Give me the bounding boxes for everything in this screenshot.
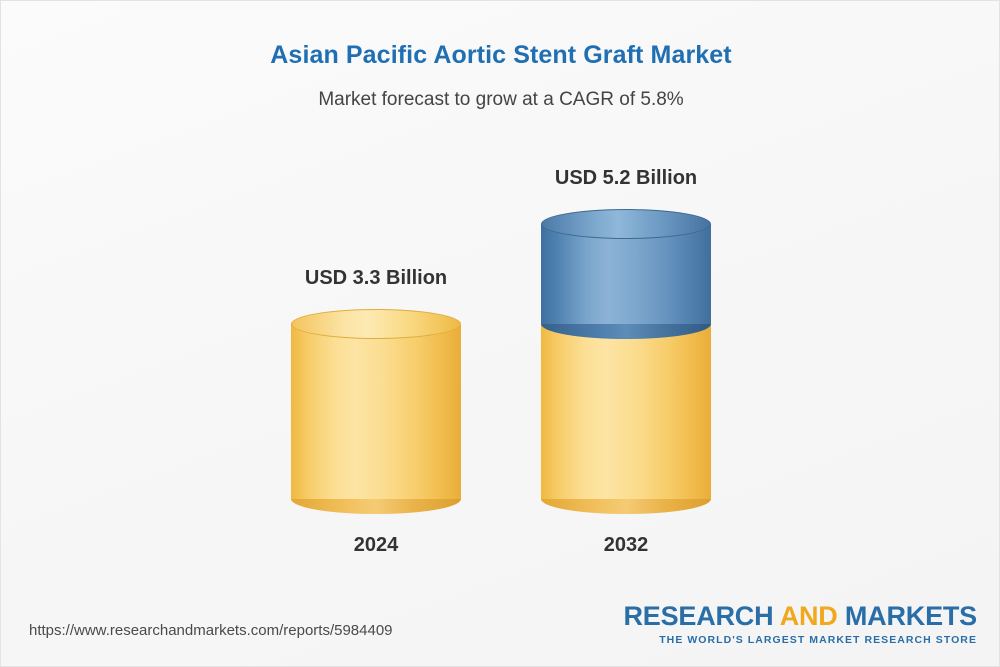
page-subtitle: Market forecast to grow at a CAGR of 5.8… [1, 89, 1000, 111]
cylinder-2024 [291, 309, 461, 514]
cylinder-body-growth-2032 [541, 224, 711, 324]
value-label-2024: USD 3.3 Billion [226, 267, 526, 290]
logo-tagline: THE WORLD'S LARGEST MARKET RESEARCH STOR… [623, 634, 977, 646]
brand-logo[interactable]: RESEARCH AND MARKETS THE WORLD'S LARGEST… [623, 601, 977, 646]
category-label-2032: 2032 [476, 534, 776, 557]
logo-wordmark: RESEARCH AND MARKETS [623, 601, 977, 631]
logo-research-text: RESEARCH [623, 601, 779, 631]
cylinder-2032 [541, 209, 711, 514]
cylinder-body-base-2032 [541, 324, 711, 499]
cylinder-top-2032 [541, 209, 711, 239]
logo-markets-text: MARKETS [838, 601, 977, 631]
chart-page: Asian Pacific Aortic Stent Graft Market … [0, 0, 1000, 667]
cylinder-top-2024 [291, 309, 461, 339]
value-label-2032: USD 5.2 Billion [476, 167, 776, 190]
logo-and-text: AND [780, 601, 838, 631]
report-url[interactable]: https://www.researchandmarkets.com/repor… [29, 622, 393, 639]
cylinder-body-2024 [291, 324, 461, 499]
page-title: Asian Pacific Aortic Stent Graft Market [1, 41, 1000, 70]
